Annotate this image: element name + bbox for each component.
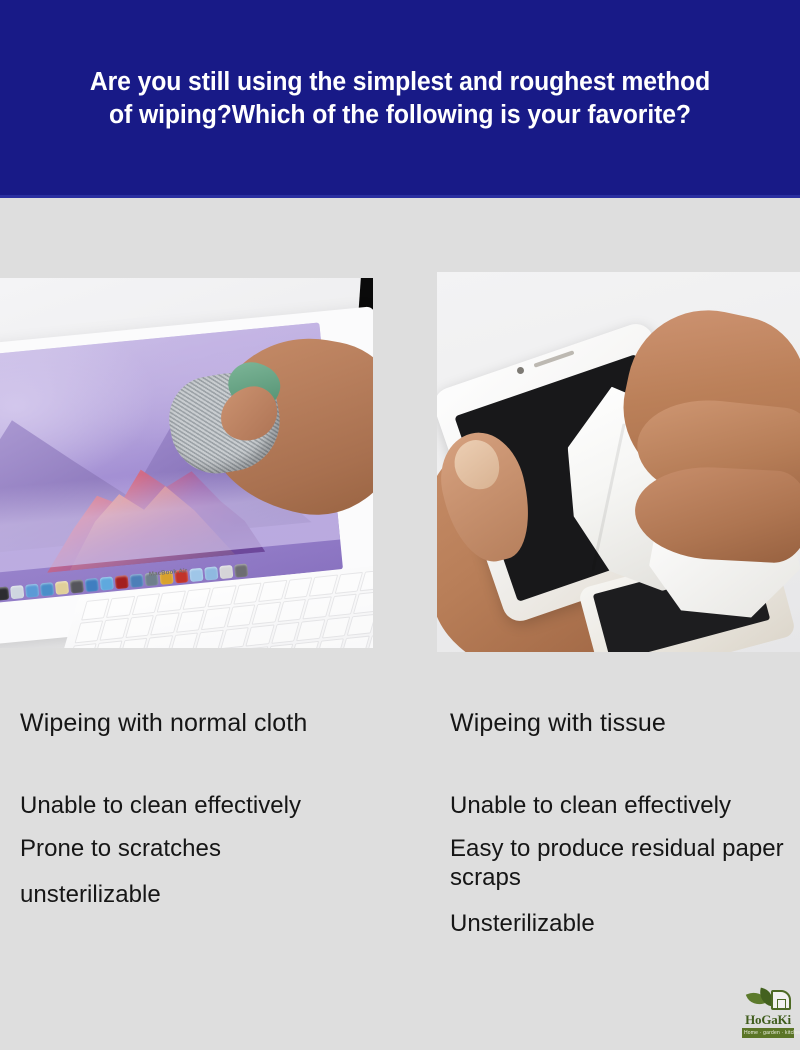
infographic-page: Are you still using the simplest and rou… [0,0,800,1050]
point-left-3: unsterilizable [20,880,420,909]
column-points-left: Unable to clean effectively Prone to scr… [20,791,420,909]
dock-icon [0,586,9,600]
photo-laptop-cloth: MacBook Air [0,278,373,648]
dock-icon [70,579,84,593]
key [157,590,186,613]
banner-bottom-rule [0,195,800,198]
point-right-2: Easy to produce residual paper scraps [450,834,790,892]
photo-phone-tissue [437,272,800,652]
column-points-right: Unable to clean effectively Easy to prod… [450,791,790,938]
column-tissue: Wipeing with tissue Unable to clean effe… [450,707,790,938]
dock-icon [55,581,69,595]
column-heading-left: Wipeing with normal cloth [20,707,420,739]
point-right-3: Unsterilizable [450,909,790,938]
point-left-2: Prone to scratches [20,834,420,863]
dock-icon [25,584,39,598]
point-left-1: Unable to clean effectively [20,791,420,820]
key [93,640,122,648]
key [119,638,148,648]
brand-logo: HoGaKi Home · garden · kitchen [742,988,794,1038]
key [264,644,293,648]
dock-icon [234,563,248,577]
headline-line-1: Are you still using the simplest and rou… [31,66,768,99]
point-right-1: Unable to clean effectively [450,791,790,820]
dock-icon [100,576,114,590]
key [290,641,319,648]
dock-icon [115,575,129,589]
key [208,585,237,608]
key [106,596,135,619]
key [195,630,224,648]
header-text-block: Are you still using the simplest and rou… [20,66,780,132]
key [144,635,173,648]
house-icon [771,990,791,1010]
leaf-house-icon [742,988,794,1012]
key [169,632,198,648]
dock-icon [130,574,144,588]
dock-icon [219,565,233,579]
dock-icon [40,582,54,596]
column-heading-right: Wipeing with tissue [450,707,790,739]
key [340,636,369,648]
dock-icon [204,566,218,580]
key [258,580,287,603]
key [245,624,274,647]
dock-icon [10,585,24,599]
header-banner: Are you still using the simplest and rou… [0,0,800,198]
dock-icon [85,578,99,592]
brand-name: HoGaKi [742,1013,794,1027]
brand-tagline: Home · garden · kitchen [742,1028,794,1038]
smartphone-front-camera-icon [517,367,524,374]
column-normal-cloth: Wipeing with normal cloth Unable to clea… [20,707,420,909]
key [315,638,344,648]
key [239,646,268,648]
headline-line-2: of wiping?Which of the following is your… [31,99,768,132]
dock-icon [189,568,203,582]
key [347,614,373,637]
key [296,619,325,642]
key [309,575,338,598]
